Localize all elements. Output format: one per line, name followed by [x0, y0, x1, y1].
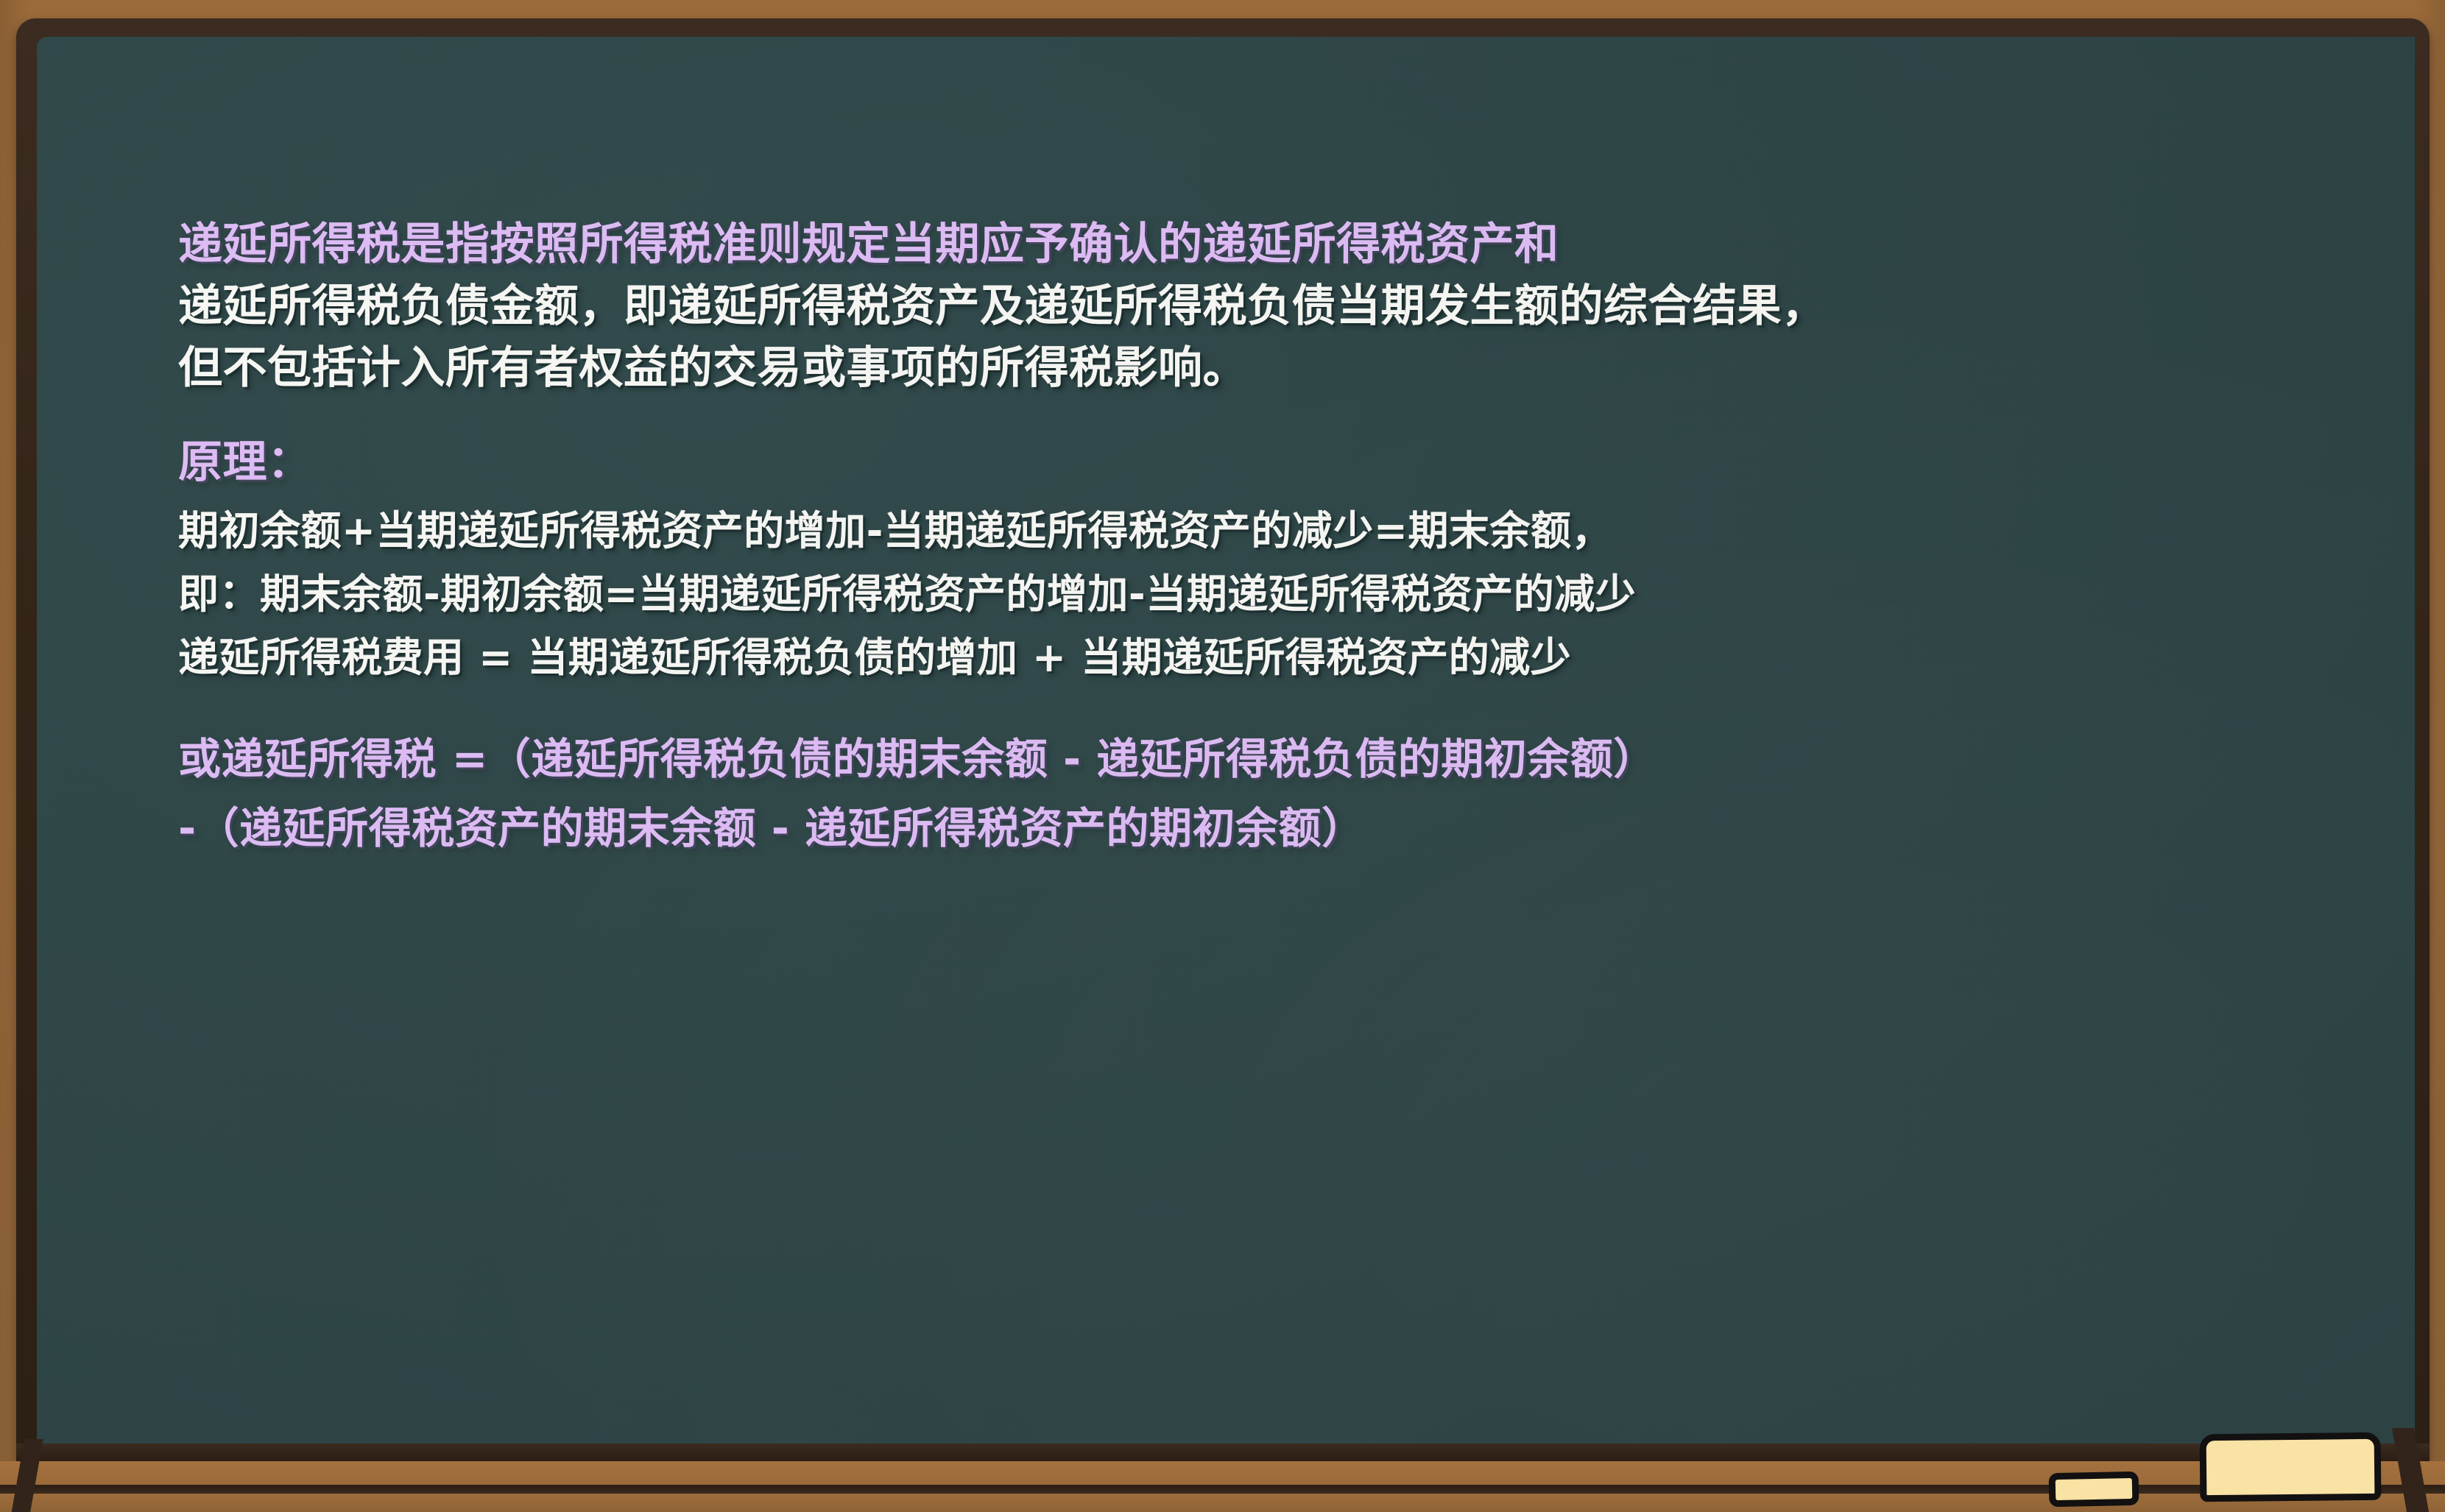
principle-line-1: 期初余额+当期递延所得税资产的增加-当期递延所得税资产的减少=期末余额， [178, 499, 2387, 562]
alternative-line-1: 或递延所得税 =（递延所得税负债的期末余额 - 递延所得税负债的期初余额） [178, 724, 2387, 794]
principle-line-2: 即：期末余额-期初余额=当期递延所得税资产的增加-当期递延所得税资产的减少 [178, 562, 2387, 626]
principle-heading: 原理： [178, 431, 2387, 493]
definition-line-3: 但不包括计入所有者权益的交易或事项的所得税影响。 [178, 337, 2387, 399]
principle-paragraph: 期初余额+当期递延所得税资产的增加-当期递延所得税资产的减少=期末余额， 即：期… [178, 499, 2387, 689]
principle-line-3: 递延所得税费用 = 当期递延所得税负债的增加 + 当期递延所得税资产的减少 [178, 626, 2387, 689]
alternative-formula-paragraph: 或递延所得税 =（递延所得税负债的期末余额 - 递延所得税负债的期初余额） -（… [178, 724, 2387, 863]
easel-bracket-left [0, 1439, 81, 1512]
chalkboard-surface: 递延所得税是指按照所得税准则规定当期应予确认的递延所得税资产和 递延所得税负债金… [37, 37, 2415, 1444]
definition-line-1: 递延所得税是指按照所得税准则规定当期应予确认的递延所得税资产和 [178, 213, 2387, 275]
chalkboard-text-content: 递延所得税是指按照所得税准则规定当期应予确认的递延所得税资产和 递延所得税负债金… [178, 213, 2387, 863]
blackboard-scene: 递延所得税是指按照所得税准则规定当期应予确认的递延所得税资产和 递延所得税负债金… [0, 0, 2445, 1512]
chalk-stick-icon[interactable] [2049, 1472, 2139, 1508]
definition-line-2: 递延所得税负债金额，即递延所得税资产及递延所得税负债当期发生额的综合结果， [178, 275, 2387, 337]
definition-paragraph: 递延所得税是指按照所得税准则规定当期应予确认的递延所得税资产和 递延所得税负债金… [178, 213, 2387, 399]
alternative-line-2: -（递延所得税资产的期末余额 - 递延所得税资产的期初余额） [178, 794, 2387, 863]
chalkboard-eraser-icon[interactable] [2200, 1432, 2382, 1502]
chalk-tray-frame-edge [16, 1444, 2430, 1463]
